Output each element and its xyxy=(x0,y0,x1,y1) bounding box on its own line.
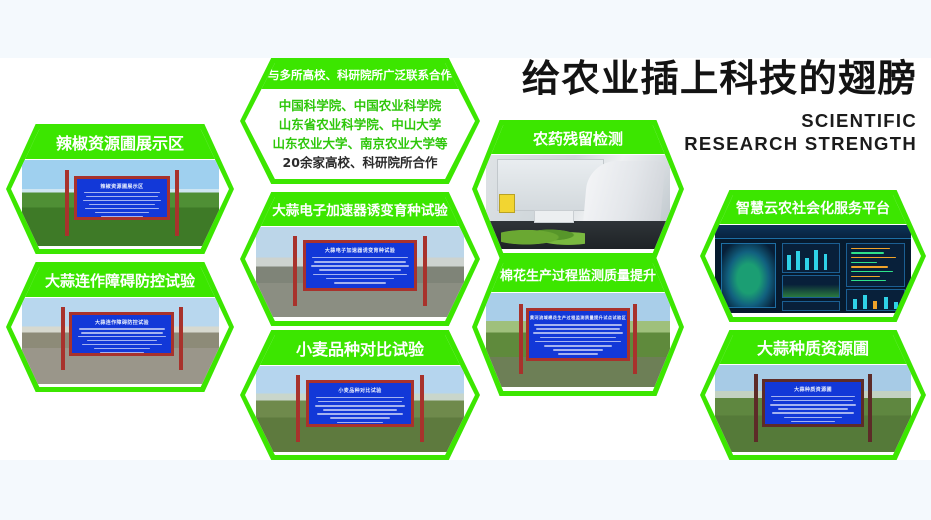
sign-board: 大蒜连作障碍防控试验 xyxy=(61,307,183,371)
card-garlic-germplasm-garden[interactable]: 大蒜种质资源圃 大蒜种质资源圃 xyxy=(700,330,926,460)
card-title-band: 小麦品种对比试验 xyxy=(245,335,475,365)
card-photo: 小麦品种对比试验 xyxy=(256,366,464,452)
card-photo: 大蒜种质资源圃 xyxy=(715,365,911,452)
card-title-band: 农药残留检测 xyxy=(477,125,679,154)
dashboard-bottom-chart xyxy=(846,289,905,311)
partners-list: 中国科学院、中国农业科学院 山东省农业科学院、中山大学 山东农业大学、南京农业大… xyxy=(245,89,475,179)
card-cotton-production-monitoring[interactable]: 棉花生产过程监测质量提升 黄河流域棉花生产过程监测质量提升试点试验区 xyxy=(472,258,684,396)
card-inner: 辣椒资源圃展示区 辣椒资源圃展示区 xyxy=(11,129,229,249)
sign-board: 大蒜电子加速器诱变育种试验 xyxy=(293,236,426,306)
sign-board: 小麦品种对比试验 xyxy=(296,375,425,442)
partner-line: 山东农业大学、南京农业大学等 xyxy=(272,135,447,152)
vegetable-sample xyxy=(501,224,586,247)
card-photo xyxy=(715,225,911,313)
card-partners[interactable]: 与多所高校、科研院所广泛联系合作 中国科学院、中国农业科学院 山东省农业科学院、… xyxy=(240,58,480,184)
card-title-band: 棉花生产过程监测质量提升 xyxy=(477,263,679,292)
card-title-band: 大蒜电子加速器诱变育种试验 xyxy=(245,197,475,226)
dashboard-map xyxy=(721,243,776,308)
card-title-band: 辣椒资源圃展示区 xyxy=(11,129,229,159)
poster-root: 给农业插上科技的翅膀 SCIENTIFIC RESEARCH STRENGTH … xyxy=(0,0,931,520)
balance-scale xyxy=(534,210,574,222)
sign-title: 大蒜连作障碍防控试验 xyxy=(95,319,149,326)
card-title: 小麦品种对比试验 xyxy=(296,341,424,359)
card-title: 大蒜电子加速器诱变育种试验 xyxy=(272,204,448,220)
card-inner: 智慧云农社会化服务平台 xyxy=(705,195,921,317)
sign-title: 黄河流域棉花生产过程监测质量提升试点试验区 xyxy=(530,315,626,321)
card-photo: 辣椒资源圃展示区 xyxy=(22,160,219,246)
sign-title: 大蒜种质资源圃 xyxy=(794,386,832,393)
dashboard-bar-chart xyxy=(782,243,841,273)
card-title-band: 大蒜种质资源圃 xyxy=(705,335,921,364)
card-title: 大蒜连作障碍防控试验 xyxy=(45,273,195,290)
card-title-band: 大蒜连作障碍防控试验 xyxy=(11,267,229,297)
card-title-band: 智慧云农社会化服务平台 xyxy=(705,195,921,224)
card-pesticide-residue-detection[interactable]: 农药残留检测 xyxy=(472,120,684,258)
card-wheat-variety-comparison[interactable]: 小麦品种对比试验 小麦品种对比试验 xyxy=(240,330,480,460)
card-title: 大蒜种质资源圃 xyxy=(757,340,869,358)
sign-title: 大蒜电子加速器诱变育种试验 xyxy=(325,247,395,254)
card-garlic-continuous-cropping[interactable]: 大蒜连作障碍防控试验 大蒜连作障碍防控试验 xyxy=(6,262,234,392)
card-inner: 大蒜电子加速器诱变育种试验 大蒜电子加速器诱变育种试验 xyxy=(245,197,475,321)
card-title: 与多所高校、科研院所广泛联系合作 xyxy=(268,69,452,82)
card-title: 智慧云农社会化服务平台 xyxy=(736,201,890,217)
sign-board: 黄河流域棉花生产过程监测质量提升试点试验区 xyxy=(519,304,637,374)
card-title: 农药残留检测 xyxy=(533,131,623,148)
dashboard-header xyxy=(715,225,911,239)
partner-line: 山东省农业科学院、中山大学 xyxy=(279,116,442,133)
dashboard-progress-list xyxy=(846,243,905,287)
card-photo: 黄河流域棉花生产过程监测质量提升试点试验区 xyxy=(486,293,670,387)
card-garlic-electron-accelerator[interactable]: 大蒜电子加速器诱变育种试验 大蒜电子加速器诱变育种试验 xyxy=(240,192,480,326)
sign-board: 辣椒资源圃展示区 xyxy=(65,170,179,235)
card-pepper-resource-garden[interactable]: 辣椒资源圃展示区 辣椒资源圃展示区 xyxy=(6,124,234,254)
card-inner: 小麦品种对比试验 小麦品种对比试验 xyxy=(245,335,475,455)
card-inner: 农药残留检测 xyxy=(477,125,679,253)
card-title-band: 与多所高校、科研院所广泛联系合作 xyxy=(245,63,475,89)
partner-line: 中国科学院、中国农业科学院 xyxy=(279,97,442,114)
card-photo: 大蒜电子加速器诱变育种试验 xyxy=(256,227,464,317)
sign-title: 小麦品种对比试验 xyxy=(338,387,381,394)
card-inner: 与多所高校、科研院所广泛联系合作 中国科学院、中国农业科学院 山东省农业科学院、… xyxy=(245,63,475,179)
card-photo: 大蒜连作障碍防控试验 xyxy=(22,298,219,384)
card-photo xyxy=(486,155,670,249)
warning-label xyxy=(499,194,516,213)
card-inner: 棉花生产过程监测质量提升 黄河流域棉花生产过程监测质量提升试点试验区 xyxy=(477,263,679,391)
sign-title: 辣椒资源圃展示区 xyxy=(100,183,143,190)
page-title: 给农业插上科技的翅膀 xyxy=(452,58,917,100)
card-inner: 大蒜种质资源圃 大蒜种质资源圃 xyxy=(705,335,921,455)
card-title: 棉花生产过程监测质量提升 xyxy=(500,270,656,285)
card-inner: 大蒜连作障碍防控试验 大蒜连作障碍防控试验 xyxy=(11,267,229,387)
partner-line: 20余家高校、科研院所合作 xyxy=(283,154,438,171)
card-title: 辣椒资源圃展示区 xyxy=(56,135,184,153)
card-smart-cloud-agriculture-platform[interactable]: 智慧云农社会化服务平台 xyxy=(700,190,926,322)
dashboard-mini-chart xyxy=(782,301,841,312)
dashboard-area-chart xyxy=(782,275,841,298)
sign-board: 大蒜种质资源圃 xyxy=(754,374,872,442)
